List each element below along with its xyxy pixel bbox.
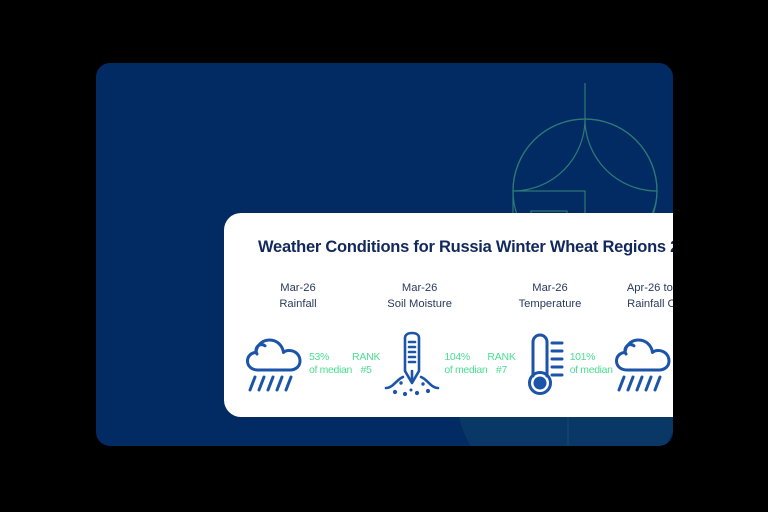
metric-unit: of median	[309, 364, 352, 377]
column-heading: Mar-26 Soil Moisture	[387, 280, 452, 312]
rank-value: #5	[352, 364, 380, 377]
metric-value-row: 118% of median	[613, 330, 673, 398]
weather-card: Weather Conditions for Russia Winter Whe…	[224, 213, 673, 417]
column-period: Mar-26	[387, 280, 452, 296]
column-metric: Soil Moisture	[387, 296, 452, 312]
column-metric: Temperature	[519, 296, 582, 312]
column-metric: Rainfall Outlook	[627, 296, 673, 312]
column-period: Apr-26 to Jul-26	[627, 280, 673, 296]
metric-percent: 104%	[444, 351, 487, 364]
metric-column-soil-moisture: Mar-26 Soil Moisture RANK #5	[352, 280, 487, 398]
rank-badge: RANK #5	[352, 351, 380, 376]
rank-badge: RANK #7	[487, 351, 515, 376]
rank-label: RANK	[487, 351, 515, 364]
column-period: Mar-26	[279, 280, 316, 296]
thermometer-icon	[519, 331, 567, 397]
column-heading: Apr-26 to Jul-26 Rainfall Outlook	[627, 280, 673, 312]
metric-value-row: RANK #5	[352, 330, 487, 398]
metric-column-rainfall-outlook: Apr-26 to Jul-26 Rainfall Outlook	[613, 280, 673, 398]
metrics-row: Mar-26 Rainfall	[244, 280, 673, 398]
metric-value: 104% of median	[444, 351, 487, 376]
rank-label: RANK	[352, 351, 380, 364]
metric-value-row: 53% of median	[244, 330, 352, 398]
metric-value-row: RANK #7	[487, 330, 612, 398]
column-period: Mar-26	[519, 280, 582, 296]
metric-column-rainfall: Mar-26 Rainfall	[244, 280, 352, 398]
soil-probe-icon	[383, 331, 441, 397]
rank-value: #7	[487, 364, 515, 377]
column-heading: Mar-26 Temperature	[519, 280, 582, 312]
column-heading: Mar-26 Rainfall	[279, 280, 316, 312]
metric-column-temperature: Mar-26 Temperature RANK #7	[487, 280, 612, 398]
metric-value: 101% of median	[570, 351, 613, 376]
metric-percent: 53%	[309, 351, 352, 364]
screenshot-root: Weather Conditions for Russia Winter Whe…	[0, 0, 768, 512]
page-title: Weather Conditions for Russia Winter Whe…	[258, 239, 673, 256]
rain-cloud-icon	[613, 334, 673, 394]
metric-percent: 101%	[570, 351, 613, 364]
metric-value: 53% of median	[309, 351, 352, 376]
navy-panel: Weather Conditions for Russia Winter Whe…	[96, 63, 673, 446]
metric-unit: of median	[444, 364, 487, 377]
rain-cloud-icon	[244, 334, 306, 394]
metric-unit: of median	[570, 364, 613, 377]
column-metric: Rainfall	[279, 296, 316, 312]
